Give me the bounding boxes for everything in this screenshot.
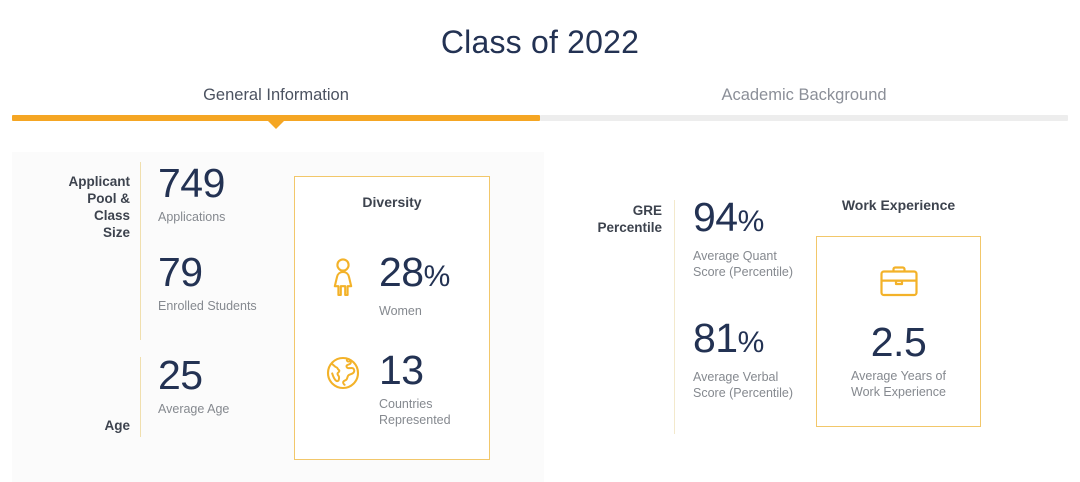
group-label-gre-percentile: GRE Percentile xyxy=(544,202,662,236)
stat-applications: 749 Applications xyxy=(158,160,257,225)
page-title: Class of 2022 xyxy=(0,0,1080,62)
divider-applicant-pool xyxy=(140,162,141,340)
stat-average-quant-value: 94% xyxy=(693,194,793,245)
stat-enrolled-students: 79 Enrolled Students xyxy=(158,249,257,314)
globe-icon xyxy=(321,347,365,391)
stat-average-age-label: Average Age xyxy=(158,401,257,417)
stat-enrolled-students-label: Enrolled Students xyxy=(158,298,257,314)
work-experience-section: Work Experience 2.5 Average Years of Wor… xyxy=(816,196,981,427)
diversity-countries-value: 13 xyxy=(379,347,451,393)
woman-icon xyxy=(321,249,365,297)
group-label-age: Age xyxy=(12,417,130,434)
tab-inactive-underline xyxy=(540,115,1068,121)
briefcase-icon xyxy=(878,264,920,305)
diversity-item-women: 28% Women xyxy=(295,249,489,319)
panel-academic-background: GRE Percentile 94% Average Quant Score (… xyxy=(544,152,1068,482)
stat-average-age: 25 Average Age xyxy=(158,352,257,417)
panel-general-information: Applicant Pool & Class Size Age 749 Appl… xyxy=(12,152,544,482)
tab-bar: General Information Academic Background xyxy=(0,84,1080,121)
stat-average-quant-label: Average Quant Score (Percentile) xyxy=(693,248,793,280)
stat-average-verbal-value: 81% xyxy=(693,315,793,366)
diversity-card: Diversity 28% Women xyxy=(294,176,490,460)
tab-general-information[interactable]: General Information xyxy=(12,84,540,121)
tab-active-pointer-icon xyxy=(267,120,285,129)
tab-academic-background-label: Academic Background xyxy=(540,84,1068,106)
divider-age xyxy=(140,357,141,437)
stat-average-verbal: 81% Average Verbal Score (Percentile) xyxy=(693,315,793,401)
diversity-item-countries: 13 Countries Represented xyxy=(295,347,489,428)
general-dividers xyxy=(140,152,141,482)
stat-average-verbal-label: Average Verbal Score (Percentile) xyxy=(693,369,793,401)
diversity-card-title: Diversity xyxy=(295,193,489,211)
diversity-countries-text: 13 Countries Represented xyxy=(365,347,451,428)
diversity-women-value: 28% xyxy=(379,249,450,300)
panels-container: Applicant Pool & Class Size Age 749 Appl… xyxy=(12,152,1068,482)
work-experience-label: Average Years of Work Experience xyxy=(851,368,946,400)
gre-stat-values: 94% Average Quant Score (Percentile) 81%… xyxy=(675,152,793,482)
stat-enrolled-students-value: 79 xyxy=(158,249,257,295)
stat-average-quant: 94% Average Quant Score (Percentile) xyxy=(693,194,793,280)
stat-applications-value: 749 xyxy=(158,160,257,206)
group-label-applicant-pool: Applicant Pool & Class Size xyxy=(12,173,130,241)
diversity-women-label: Women xyxy=(379,303,450,319)
work-experience-value: 2.5 xyxy=(871,319,927,365)
general-stat-values: 749 Applications 79 Enrolled Students 25… xyxy=(141,152,257,482)
stat-average-age-value: 25 xyxy=(158,352,257,398)
diversity-women-text: 28% Women xyxy=(365,249,450,319)
general-group-labels: Applicant Pool & Class Size Age xyxy=(12,152,130,482)
tab-academic-background[interactable]: Academic Background xyxy=(540,84,1068,121)
work-experience-title: Work Experience xyxy=(816,196,981,214)
group-label-gre-percentile-wrap: GRE Percentile xyxy=(544,152,662,482)
diversity-countries-label: Countries Represented xyxy=(379,396,451,428)
work-experience-card: 2.5 Average Years of Work Experience xyxy=(816,236,981,427)
stat-applications-label: Applications xyxy=(158,209,257,225)
tab-general-information-label: General Information xyxy=(12,84,540,106)
